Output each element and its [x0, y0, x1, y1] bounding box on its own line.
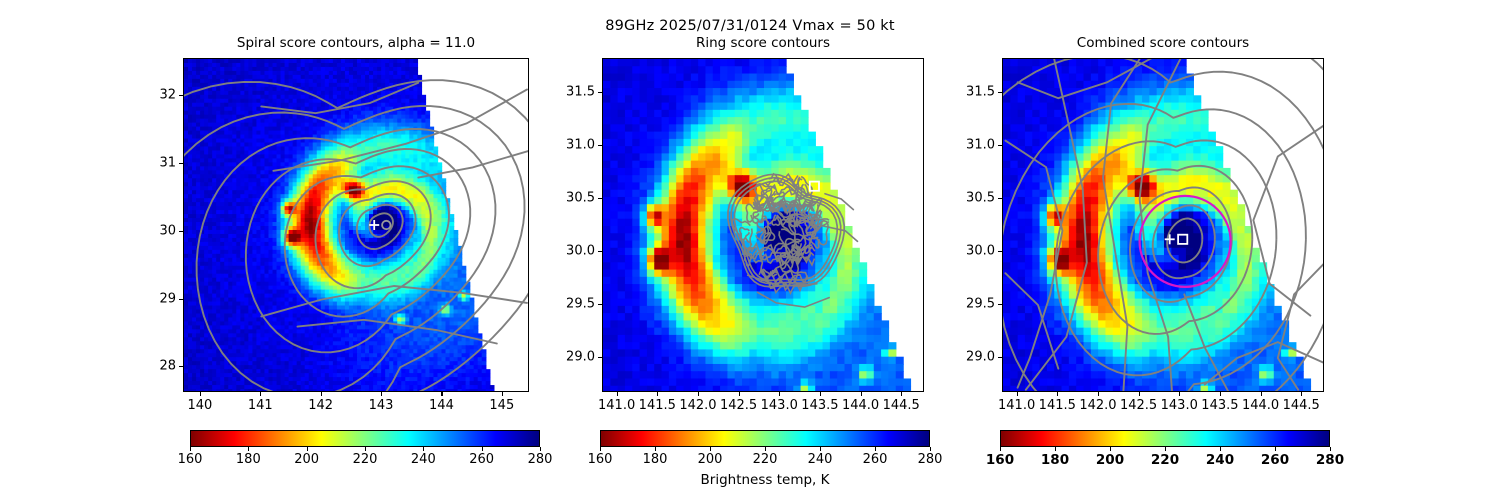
x-tick-label: 144 — [429, 398, 454, 413]
y-tick-mark — [179, 95, 183, 96]
colorbar-tick-mark — [248, 447, 249, 451]
x-tick-label: 142.5 — [1120, 398, 1157, 413]
y-tick-label: 29.0 — [966, 350, 995, 365]
x-tick-mark — [1017, 392, 1018, 396]
y-tick-label: 29 — [159, 291, 176, 306]
colorbar-xlabel: Brightness temp, K — [701, 472, 830, 488]
x-tick-mark — [1220, 392, 1221, 396]
y-tick-mark — [179, 366, 183, 367]
panel-spiral-image — [184, 59, 529, 392]
panel-combined-image — [1003, 59, 1324, 392]
colorbar-tick-label: 260 — [863, 452, 888, 467]
colorbar-tick-label: 240 — [808, 452, 833, 467]
x-tick-mark — [1301, 392, 1302, 396]
figure-canvas: 89GHz 2025/07/31/0124 Vmax = 50 kt Spira… — [0, 0, 1500, 500]
x-tick-label: 143.5 — [801, 398, 838, 413]
y-tick-mark — [598, 251, 602, 252]
y-tick-mark — [179, 231, 183, 232]
x-tick-label: 143.0 — [761, 398, 798, 413]
colorbar-tick-mark — [710, 447, 711, 451]
x-tick-mark — [698, 392, 699, 396]
x-tick-label: 145 — [489, 398, 514, 413]
y-tick-mark — [998, 304, 1002, 305]
y-tick-mark — [598, 357, 602, 358]
x-tick-label: 141.0 — [998, 398, 1035, 413]
colorbar-tick-label: 240 — [411, 452, 436, 467]
y-tick-label: 29.5 — [566, 296, 595, 311]
colorbar-tick-mark — [1330, 447, 1331, 451]
x-tick-mark — [502, 392, 503, 396]
panel-ring-axes[interactable] — [602, 58, 924, 392]
panel-combined: Combined score contours 141.0141.5142.01… — [1002, 58, 1324, 392]
y-tick-label: 28 — [159, 359, 176, 374]
x-tick-label: 144.0 — [842, 398, 879, 413]
colorbar-tick-mark — [1055, 447, 1056, 451]
colorbar-tick-label: 220 — [753, 452, 778, 467]
colorbar-tick-mark — [307, 447, 308, 451]
colorbar-tick-label: 200 — [1096, 452, 1124, 468]
colorbar-tick-mark — [423, 447, 424, 451]
x-tick-mark — [1098, 392, 1099, 396]
x-tick-mark — [779, 392, 780, 396]
x-tick-mark — [739, 392, 740, 396]
x-tick-label: 144.5 — [883, 398, 920, 413]
x-tick-mark — [861, 392, 862, 396]
x-tick-mark — [200, 392, 201, 396]
y-tick-label: 30.5 — [966, 190, 995, 205]
y-tick-label: 31 — [159, 156, 176, 171]
colorbar-tick-label: 280 — [918, 452, 943, 467]
colorbar-tick-label: 260 — [1261, 452, 1289, 468]
x-tick-label: 143.0 — [1161, 398, 1198, 413]
x-tick-mark — [321, 392, 322, 396]
colorbar-combined: 160180200220240260280 — [1000, 430, 1330, 447]
x-tick-label: 143.5 — [1201, 398, 1238, 413]
panel-spiral-axes[interactable] — [183, 58, 529, 392]
colorbar-tick-label: 180 — [236, 452, 261, 467]
y-tick-mark — [998, 251, 1002, 252]
colorbar-tick-label: 220 — [1151, 452, 1179, 468]
colorbar-tick-mark — [875, 447, 876, 451]
panel-spiral-title: Spiral score contours, alpha = 11.0 — [183, 35, 529, 51]
x-tick-label: 142.5 — [720, 398, 757, 413]
colorbar-ring: 160180200220240260280 Brightness temp, K — [600, 430, 930, 447]
y-tick-label: 30.0 — [566, 243, 595, 258]
y-tick-mark — [598, 304, 602, 305]
colorbar-tick-mark — [365, 447, 366, 451]
colorbar-tick-label: 160 — [986, 452, 1014, 468]
colorbar-tick-mark — [540, 447, 541, 451]
x-tick-mark — [260, 392, 261, 396]
y-tick-mark — [179, 163, 183, 164]
colorbar-tick-label: 180 — [643, 452, 668, 467]
panel-spiral: Spiral score contours, alpha = 11.0 1401… — [183, 58, 529, 392]
x-tick-label: 143 — [369, 398, 394, 413]
colorbar-tick-mark — [1275, 447, 1276, 451]
x-tick-label: 142.0 — [1079, 398, 1116, 413]
colorbar-tick-label: 160 — [178, 452, 203, 467]
y-tick-mark — [998, 145, 1002, 146]
colorbar-combined-gradient — [1000, 430, 1330, 447]
y-tick-label: 30.5 — [566, 190, 595, 205]
y-tick-label: 31.0 — [966, 137, 995, 152]
panel-ring-title: Ring score contours — [602, 35, 924, 51]
x-tick-label: 140 — [187, 398, 212, 413]
panel-ring: Ring score contours 141.0141.5142.0142.5… — [602, 58, 924, 392]
y-tick-mark — [598, 145, 602, 146]
x-tick-label: 141 — [248, 398, 273, 413]
colorbar-tick-mark — [600, 447, 601, 451]
y-tick-label: 30 — [159, 223, 176, 238]
x-tick-label: 144.5 — [1283, 398, 1320, 413]
y-tick-mark — [179, 299, 183, 300]
x-tick-mark — [1179, 392, 1180, 396]
colorbar-tick-label: 280 — [528, 452, 553, 467]
y-tick-label: 29.0 — [566, 350, 595, 365]
x-tick-mark — [901, 392, 902, 396]
colorbar-tick-label: 220 — [353, 452, 378, 467]
panel-combined-title: Combined score contours — [1002, 35, 1324, 51]
y-tick-label: 29.5 — [966, 296, 995, 311]
x-tick-label: 141.0 — [598, 398, 635, 413]
colorbar-tick-label: 160 — [588, 452, 613, 467]
colorbar-tick-label: 280 — [1316, 452, 1344, 468]
colorbar-tick-label: 240 — [1206, 452, 1234, 468]
colorbar-tick-mark — [190, 447, 191, 451]
figure-suptitle: 89GHz 2025/07/31/0124 Vmax = 50 kt — [0, 18, 1500, 34]
colorbar-tick-label: 200 — [294, 452, 319, 467]
colorbar-spiral-gradient — [190, 430, 540, 447]
colorbar-spiral: 160180200220240260280 — [190, 430, 540, 447]
x-tick-label: 144.0 — [1242, 398, 1279, 413]
y-tick-mark — [598, 92, 602, 93]
colorbar-tick-mark — [482, 447, 483, 451]
y-tick-label: 31.5 — [966, 84, 995, 99]
colorbar-tick-mark — [1165, 447, 1166, 451]
colorbar-tick-mark — [655, 447, 656, 451]
x-tick-mark — [820, 392, 821, 396]
colorbar-ring-gradient — [600, 430, 930, 447]
colorbar-tick-mark — [765, 447, 766, 451]
y-tick-label: 31.5 — [566, 84, 595, 99]
x-tick-mark — [657, 392, 658, 396]
y-tick-mark — [998, 198, 1002, 199]
colorbar-tick-label: 200 — [698, 452, 723, 467]
x-tick-mark — [1139, 392, 1140, 396]
y-tick-label: 30.0 — [966, 243, 995, 258]
x-tick-mark — [617, 392, 618, 396]
colorbar-tick-mark — [930, 447, 931, 451]
colorbar-tick-label: 180 — [1041, 452, 1069, 468]
colorbar-tick-label: 260 — [469, 452, 494, 467]
colorbar-tick-mark — [1220, 447, 1221, 451]
panel-ring-image — [603, 59, 924, 392]
x-tick-label: 141.5 — [639, 398, 676, 413]
y-tick-mark — [998, 357, 1002, 358]
y-tick-label: 32 — [159, 88, 176, 103]
colorbar-tick-mark — [820, 447, 821, 451]
x-tick-mark — [381, 392, 382, 396]
x-tick-mark — [1057, 392, 1058, 396]
y-tick-mark — [998, 92, 1002, 93]
colorbar-tick-mark — [1000, 447, 1001, 451]
y-tick-mark — [598, 198, 602, 199]
x-tick-label: 141.5 — [1039, 398, 1076, 413]
x-tick-mark — [441, 392, 442, 396]
colorbar-tick-mark — [1110, 447, 1111, 451]
x-tick-label: 142.0 — [679, 398, 716, 413]
x-tick-label: 142 — [308, 398, 333, 413]
x-tick-mark — [1261, 392, 1262, 396]
y-tick-label: 31.0 — [566, 137, 595, 152]
panel-combined-axes[interactable] — [1002, 58, 1324, 392]
